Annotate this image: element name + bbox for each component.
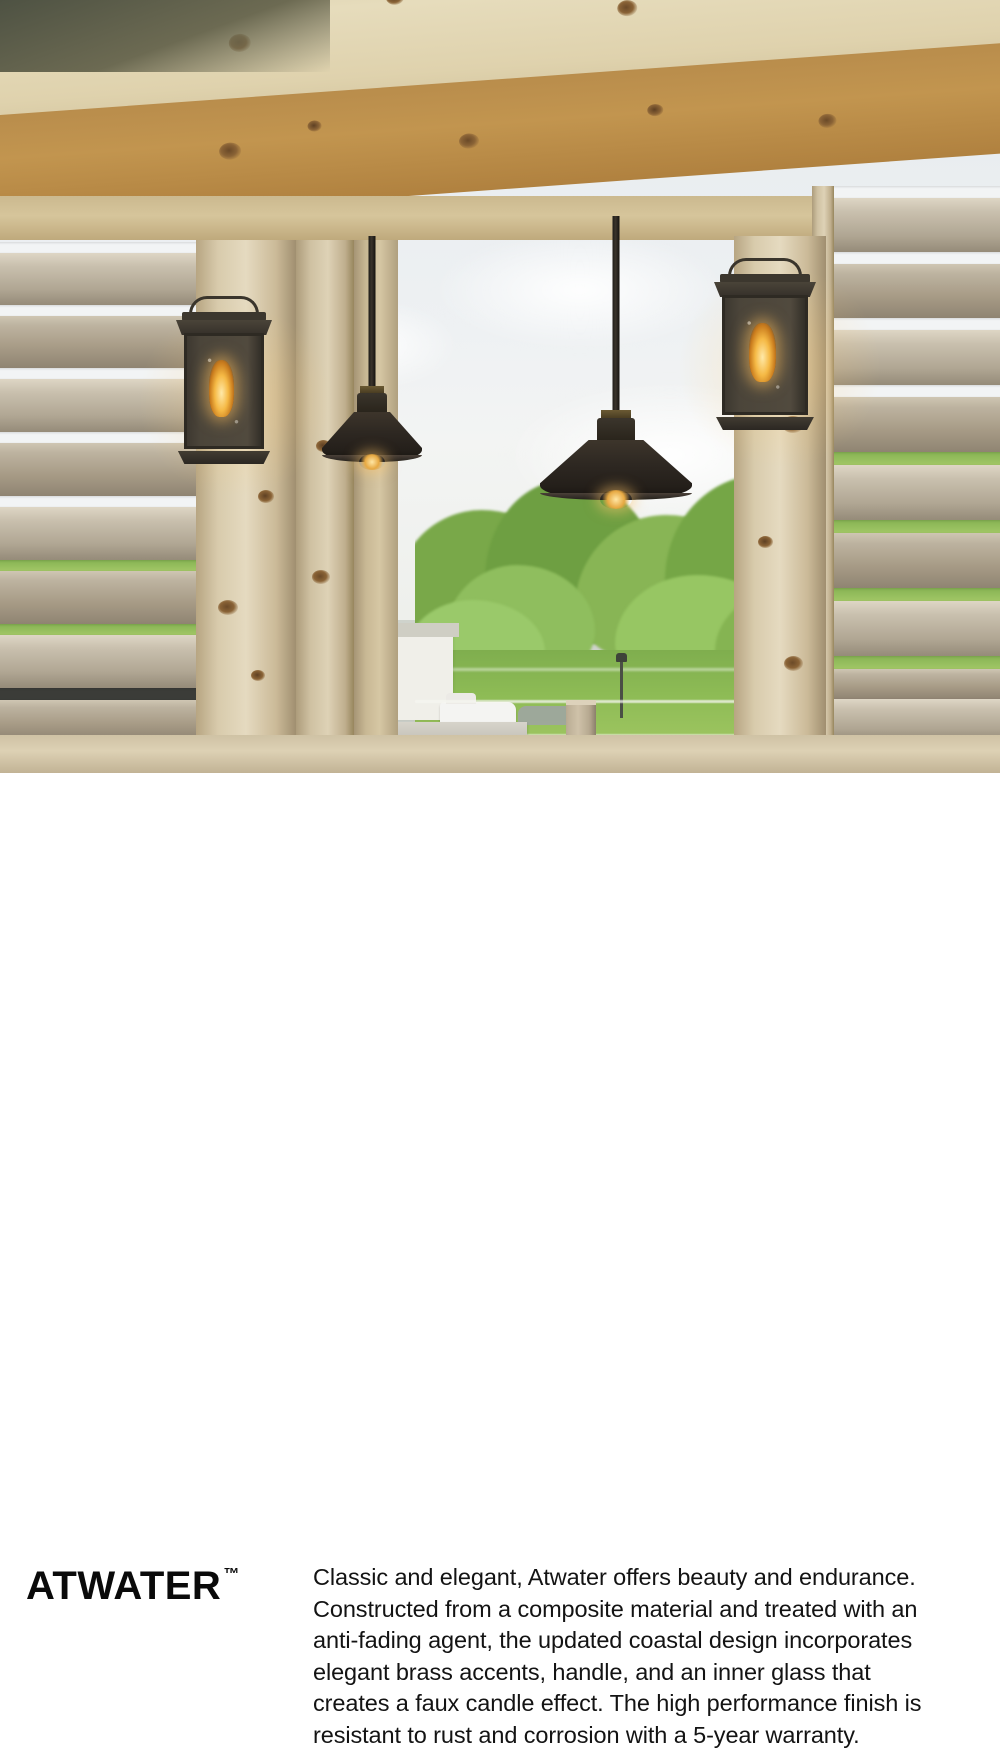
lantern-top-plate	[182, 312, 266, 321]
description-line: creates a faux candle effect. The high p…	[313, 1690, 921, 1716]
wall-lantern-sconce-right	[714, 258, 816, 430]
brand-name-text: ATWATER	[26, 1564, 221, 1608]
wall-lantern-sconce-left	[176, 296, 272, 464]
caption-panel: ATWATER™ Classic and elegant, Atwater of…	[0, 773, 1000, 1000]
pendant-bulb	[600, 490, 632, 509]
description-line: resistant to rust and corrosion with a 5…	[313, 1722, 860, 1748]
barn-pendant-right	[540, 216, 692, 486]
lantern-base	[178, 451, 270, 464]
background-lamppost	[620, 660, 623, 718]
lantern-base	[716, 417, 814, 430]
lantern-body	[722, 295, 808, 415]
louvered-slat-wall-right	[826, 186, 1000, 738]
lantern-candle-flame	[749, 323, 776, 382]
pendant-bulb	[359, 454, 385, 470]
product-feature-card: ATWATER™ Classic and elegant, Atwater of…	[0, 0, 1000, 1000]
description-line: anti-fading agent, the updated coastal d…	[313, 1627, 912, 1653]
barn-pendant-left	[322, 236, 422, 476]
lantern-top-plate	[720, 274, 810, 283]
pendant-downrod	[369, 236, 376, 388]
description-line: Constructed from a composite material an…	[313, 1596, 917, 1622]
pendant-collar	[601, 410, 631, 418]
product-description: Classic and elegant, Atwater offers beau…	[313, 1562, 973, 1751]
lantern-candle-flame	[209, 360, 234, 417]
trademark-icon: ™	[223, 1566, 239, 1583]
ceiling-shadow	[0, 0, 330, 72]
pendant-downrod	[613, 216, 620, 412]
lantern-body	[184, 333, 265, 449]
product-photo	[0, 0, 1000, 773]
pendant-collar	[360, 386, 384, 393]
pendant-fitter	[357, 393, 387, 415]
bottom-sill-board	[0, 735, 1000, 773]
description-line: Classic and elegant, Atwater offers beau…	[313, 1564, 916, 1590]
description-line: elegant brass accents, handle, and an in…	[313, 1659, 871, 1685]
brand-name: ATWATER™	[26, 1566, 239, 1606]
